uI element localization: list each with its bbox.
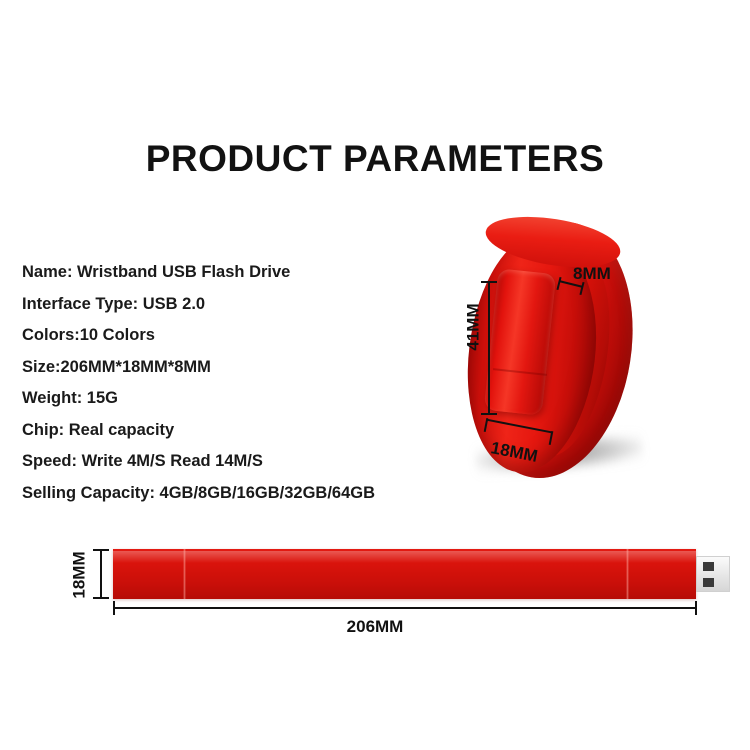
flat-dimension-cap-width-bottom xyxy=(93,597,109,599)
usb-contact-lower xyxy=(703,578,714,587)
flat-dimension-label-length: 206MM xyxy=(0,617,750,637)
flat-dimension-cap-length-left xyxy=(113,601,115,615)
spec-line-weight: Weight: 15G xyxy=(22,383,452,415)
dimension-line-height xyxy=(488,281,490,415)
dimension-label-thickness: 8MM xyxy=(573,264,611,284)
spec-line-name: Name: Wristband USB Flash Drive xyxy=(22,257,452,289)
page-title: PRODUCT PARAMETERS xyxy=(0,138,750,180)
flat-dimension-line-width xyxy=(100,549,102,599)
strap-gloss-highlight xyxy=(113,551,696,563)
dimension-cap-height-top xyxy=(481,281,497,283)
coiled-wristband-photo: 41MM 8MM 18MM xyxy=(455,205,665,510)
flat-dimension-label-width: 18MM xyxy=(70,551,90,598)
dimension-cap-height-bottom xyxy=(481,413,497,415)
product-spec-list: Name: Wristband USB Flash Drive Interfac… xyxy=(22,257,452,509)
spec-line-chip: Chip: Real capacity xyxy=(22,415,452,447)
spec-line-selling-capacity: Selling Capacity: 4GB/8GB/16GB/32GB/64GB xyxy=(22,478,452,510)
strap-seam-left xyxy=(183,549,186,599)
spec-line-speed: Speed: Write 4M/S Read 14M/S xyxy=(22,446,452,478)
spec-line-colors: Colors:10 Colors xyxy=(22,320,452,352)
flat-dimension-line-length xyxy=(113,607,697,609)
dimension-label-height: 41MM xyxy=(464,303,484,350)
usb-contact-upper xyxy=(703,562,714,571)
flat-dimension-cap-length-right xyxy=(695,601,697,615)
strap-seam-right xyxy=(626,549,629,599)
spec-line-interface-type: Interface Type: USB 2.0 xyxy=(22,289,452,321)
spec-line-size: Size:206MM*18MM*8MM xyxy=(22,352,452,384)
flat-dimension-cap-width-top xyxy=(93,549,109,551)
